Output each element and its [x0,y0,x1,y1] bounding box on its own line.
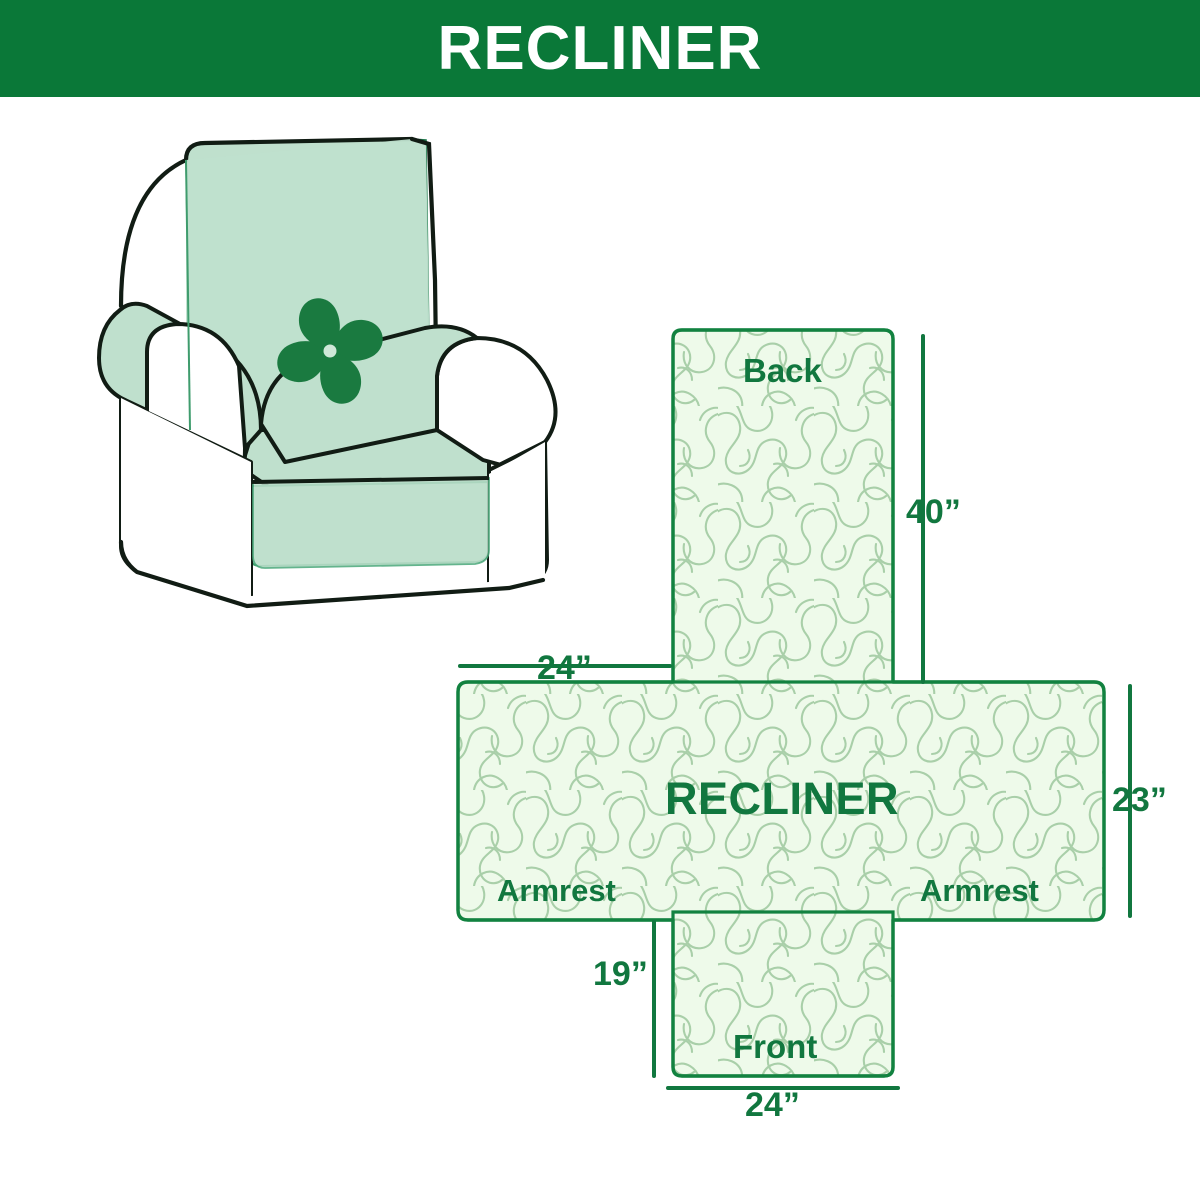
dimension-armrest-width: 24” [537,651,592,685]
page-title: RECLINER [438,18,763,80]
panel-label-armrest-left: Armrest [497,875,616,906]
cross-pattern-shape [458,330,1104,1076]
cover-pattern-diagram [430,310,1200,1140]
dimension-seat-depth: 23” [1112,783,1167,817]
pinwheel-hub [324,345,337,358]
dimension-back-height: 40” [906,495,961,529]
panel-label-seat: RECLINER [665,776,899,821]
product-dimension-diagram: RECLINER [0,0,1200,1200]
panel-label-front: Front [733,1030,817,1063]
panel-label-armrest-right: Armrest [920,875,1039,906]
panel-label-back: Back [743,354,822,387]
header-band: RECLINER [0,0,1200,97]
pattern-svg [430,310,1200,1140]
dimension-front-height: 19” [593,957,648,991]
dimension-front-width: 24” [745,1088,800,1122]
